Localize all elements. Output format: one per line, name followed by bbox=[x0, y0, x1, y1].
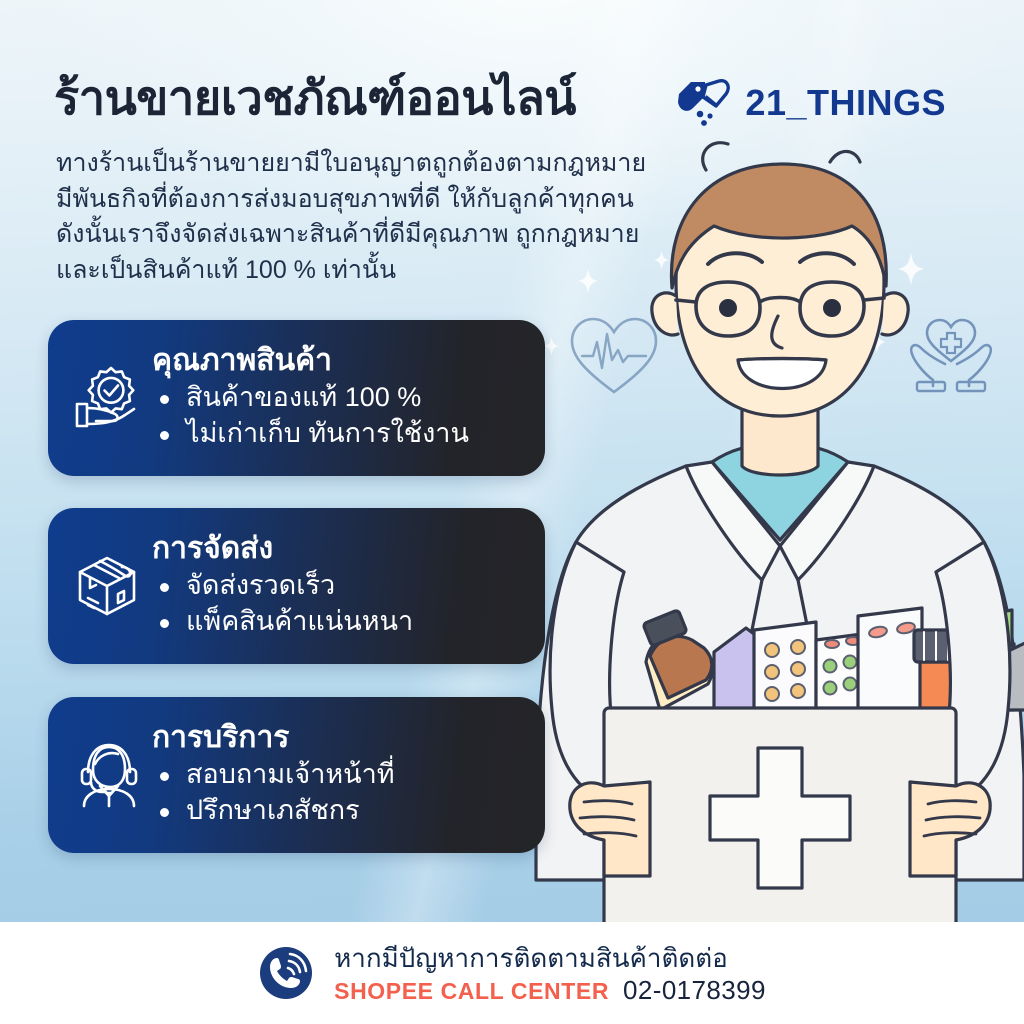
card-bullets: จัดส่งรวดเร็ว แพ็คสินค้าแน่นหนา bbox=[152, 568, 527, 640]
phone-number[interactable]: 02-0178399 bbox=[623, 975, 766, 1006]
phone-ring-icon bbox=[258, 945, 314, 1001]
card-title: คุณภาพสินค้า bbox=[152, 344, 527, 378]
card-body: คุณภาพสินค้า สินค้าของแท้ 100 % ไม่เก่าเ… bbox=[150, 344, 527, 451]
bullet-item: สอบถามเจ้าหน้าที่ bbox=[152, 757, 527, 793]
card-title: การบริการ bbox=[152, 721, 527, 755]
footer-contact-text: หากมีปัญหาการติดตามสินค้าติดต่อ bbox=[334, 942, 766, 975]
card-bullets: สอบถามเจ้าหน้าที่ ปรึกษาเภสัชกร bbox=[152, 757, 527, 829]
feature-card-quality[interactable]: คุณภาพสินค้า สินค้าของแท้ 100 % ไม่เก่าเ… bbox=[48, 320, 545, 476]
feature-card-shipping[interactable]: การจัดส่ง จัดส่งรวดเร็ว แพ็คสินค้าแน่นหน… bbox=[48, 508, 545, 664]
bullet-item: สินค้าของแท้ 100 % bbox=[152, 380, 527, 416]
bullet-item: ไม่เก่าเก็บ ทันการใช้งาน bbox=[152, 416, 527, 452]
pharmacist-illustration bbox=[500, 110, 1024, 922]
card-body: การจัดส่ง จัดส่งรวดเร็ว แพ็คสินค้าแน่นหน… bbox=[150, 532, 527, 639]
card-bullets: สินค้าของแท้ 100 % ไม่เก่าเก็บ ทันการใช้… bbox=[152, 380, 527, 452]
headset-agent-icon bbox=[64, 742, 150, 808]
card-body: การบริการ สอบถามเจ้าหน้าที่ ปรึกษาเภสัชก… bbox=[150, 721, 527, 828]
badge-in-hand-icon bbox=[64, 366, 150, 430]
feature-card-service[interactable]: การบริการ สอบถามเจ้าหน้าที่ ปรึกษาเภสัชก… bbox=[48, 697, 545, 853]
package-box-icon bbox=[64, 553, 150, 619]
call-center-label: SHOPEE CALL CENTER bbox=[334, 978, 609, 1006]
footer-text: หากมีปัญหาการติดตามสินค้าติดต่อ SHOPEE C… bbox=[334, 940, 766, 1006]
bullet-item: ปรึกษาเภสัชกร bbox=[152, 793, 527, 829]
bullet-item: จัดส่งรวดเร็ว bbox=[152, 568, 527, 604]
bullet-item: แพ็คสินค้าแน่นหนา bbox=[152, 604, 527, 640]
footer: หากมีปัญหาการติดตามสินค้าติดต่อ SHOPEE C… bbox=[0, 922, 1024, 1024]
poster-canvas: ร้านขายเวชภัณฑ์ออนไลน์ 21_THINGS ทางร้าน… bbox=[0, 0, 1024, 922]
card-title: การจัดส่ง bbox=[152, 532, 527, 566]
page-title: ร้านขายเวชภัณฑ์ออนไลน์ bbox=[54, 72, 576, 125]
